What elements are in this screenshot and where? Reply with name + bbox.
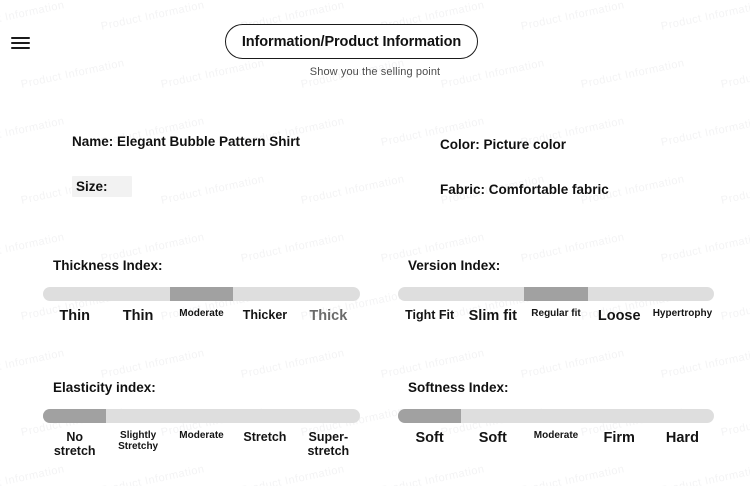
watermark-text: Product Information (240, 463, 346, 486)
watermark-text: Product Information (300, 173, 406, 207)
index-label: Soft (398, 430, 461, 446)
index-labels-softness: SoftSoftModerateFirmHard (398, 430, 714, 446)
watermark-text: Product Information (720, 405, 750, 439)
index-block-elasticity: Elasticity index:No stretchSlightly Stre… (43, 380, 360, 458)
index-block-version: Version Index:Tight FitSlim fitRegular f… (398, 258, 714, 324)
page-title-badge: Information/Product Information (225, 24, 478, 59)
watermark-text: Product Information (380, 463, 486, 486)
watermark-text: Product Information (660, 115, 750, 149)
index-labels-version: Tight FitSlim fitRegular fitLooseHypertr… (398, 308, 714, 324)
bar-segment[interactable] (398, 287, 461, 301)
page-subtitle: Show you the selling point (0, 66, 750, 78)
index-title-thickness: Thickness Index: (53, 258, 360, 273)
index-label: Hypertrophy (651, 308, 714, 324)
bar-segment[interactable] (297, 409, 360, 423)
index-label: Loose (588, 308, 651, 324)
index-label: Slightly Stretchy (106, 430, 169, 458)
index-label: Thin (43, 308, 106, 324)
hamburger-menu-icon[interactable] (11, 35, 30, 51)
index-block-softness: Softness Index:SoftSoftModerateFirmHard (398, 380, 714, 446)
bar-segment[interactable] (461, 287, 524, 301)
bar-segment[interactable] (106, 409, 169, 423)
index-label: Tight Fit (398, 308, 461, 324)
hamburger-line (11, 37, 30, 39)
index-label: Moderate (170, 430, 233, 458)
watermark-text: Product Information (720, 173, 750, 207)
bar-segment[interactable] (43, 287, 106, 301)
index-label: Moderate (524, 430, 587, 446)
index-label: Soft (461, 430, 524, 446)
watermark-text: Product Information (660, 347, 750, 381)
index-title-softness: Softness Index: (408, 380, 714, 395)
hamburger-line (11, 47, 30, 49)
watermark-text: Product Information (720, 289, 750, 323)
bar-segment[interactable] (651, 287, 714, 301)
index-label: Slim fit (461, 308, 524, 324)
index-labels-elasticity: No stretchSlightly StretchyModerateStret… (43, 430, 360, 458)
bar-segment-active[interactable] (524, 287, 587, 301)
watermark-text: Product Information (100, 347, 206, 381)
index-title-version: Version Index: (408, 258, 714, 273)
index-label: Thick (297, 308, 360, 324)
index-label: Stretch (233, 430, 296, 458)
watermark-text: Product Information (520, 463, 626, 486)
bar-segment[interactable] (461, 409, 524, 423)
product-size: Size: (72, 176, 132, 197)
bar-segment[interactable] (170, 409, 233, 423)
page-title: Information/Product Information (242, 34, 461, 50)
bar-segment[interactable] (651, 409, 714, 423)
index-label: Firm (588, 430, 651, 446)
index-bar-thickness[interactable] (43, 287, 360, 301)
index-bar-elasticity[interactable] (43, 409, 360, 423)
index-label: Moderate (170, 308, 233, 324)
watermark-text: Product Information (380, 347, 486, 381)
product-name: Name: Elegant Bubble Pattern Shirt (72, 134, 300, 149)
bar-segment[interactable] (588, 287, 651, 301)
index-labels-thickness: ThinThinModerateThickerThick (43, 308, 360, 324)
bar-segment[interactable] (588, 409, 651, 423)
watermark-text: Product Information (160, 173, 266, 207)
hamburger-line (11, 42, 30, 44)
bar-segment[interactable] (233, 287, 296, 301)
index-label: No stretch (43, 430, 106, 458)
product-fabric: Fabric: Comfortable fabric (440, 182, 609, 197)
watermark-text: Product Information (240, 347, 346, 381)
index-block-thickness: Thickness Index:ThinThinModerateThickerT… (43, 258, 360, 324)
index-label: Thin (106, 308, 169, 324)
bar-segment-active[interactable] (398, 409, 461, 423)
watermark-text: Product Information (0, 463, 66, 486)
bar-segment[interactable] (297, 287, 360, 301)
bar-segment[interactable] (233, 409, 296, 423)
index-label: Regular fit (524, 308, 587, 324)
watermark-text: Product Information (0, 115, 66, 149)
index-label: Thicker (233, 308, 296, 324)
bar-segment[interactable] (524, 409, 587, 423)
page-header: Information/Product Information Show you… (0, 0, 750, 92)
index-bar-version[interactable] (398, 287, 714, 301)
watermark-text: Product Information (100, 463, 206, 486)
index-label: Super-stretch (297, 430, 360, 458)
bar-segment-active[interactable] (170, 287, 233, 301)
bar-segment[interactable] (106, 287, 169, 301)
index-label: Hard (651, 430, 714, 446)
watermark-text: Product Information (660, 463, 750, 486)
watermark-text: Product Information (0, 347, 66, 381)
bar-segment-active[interactable] (43, 409, 106, 423)
index-bar-softness[interactable] (398, 409, 714, 423)
index-title-elasticity: Elasticity index: (53, 380, 360, 395)
product-color: Color: Picture color (440, 137, 566, 152)
watermark-text: Product Information (520, 347, 626, 381)
